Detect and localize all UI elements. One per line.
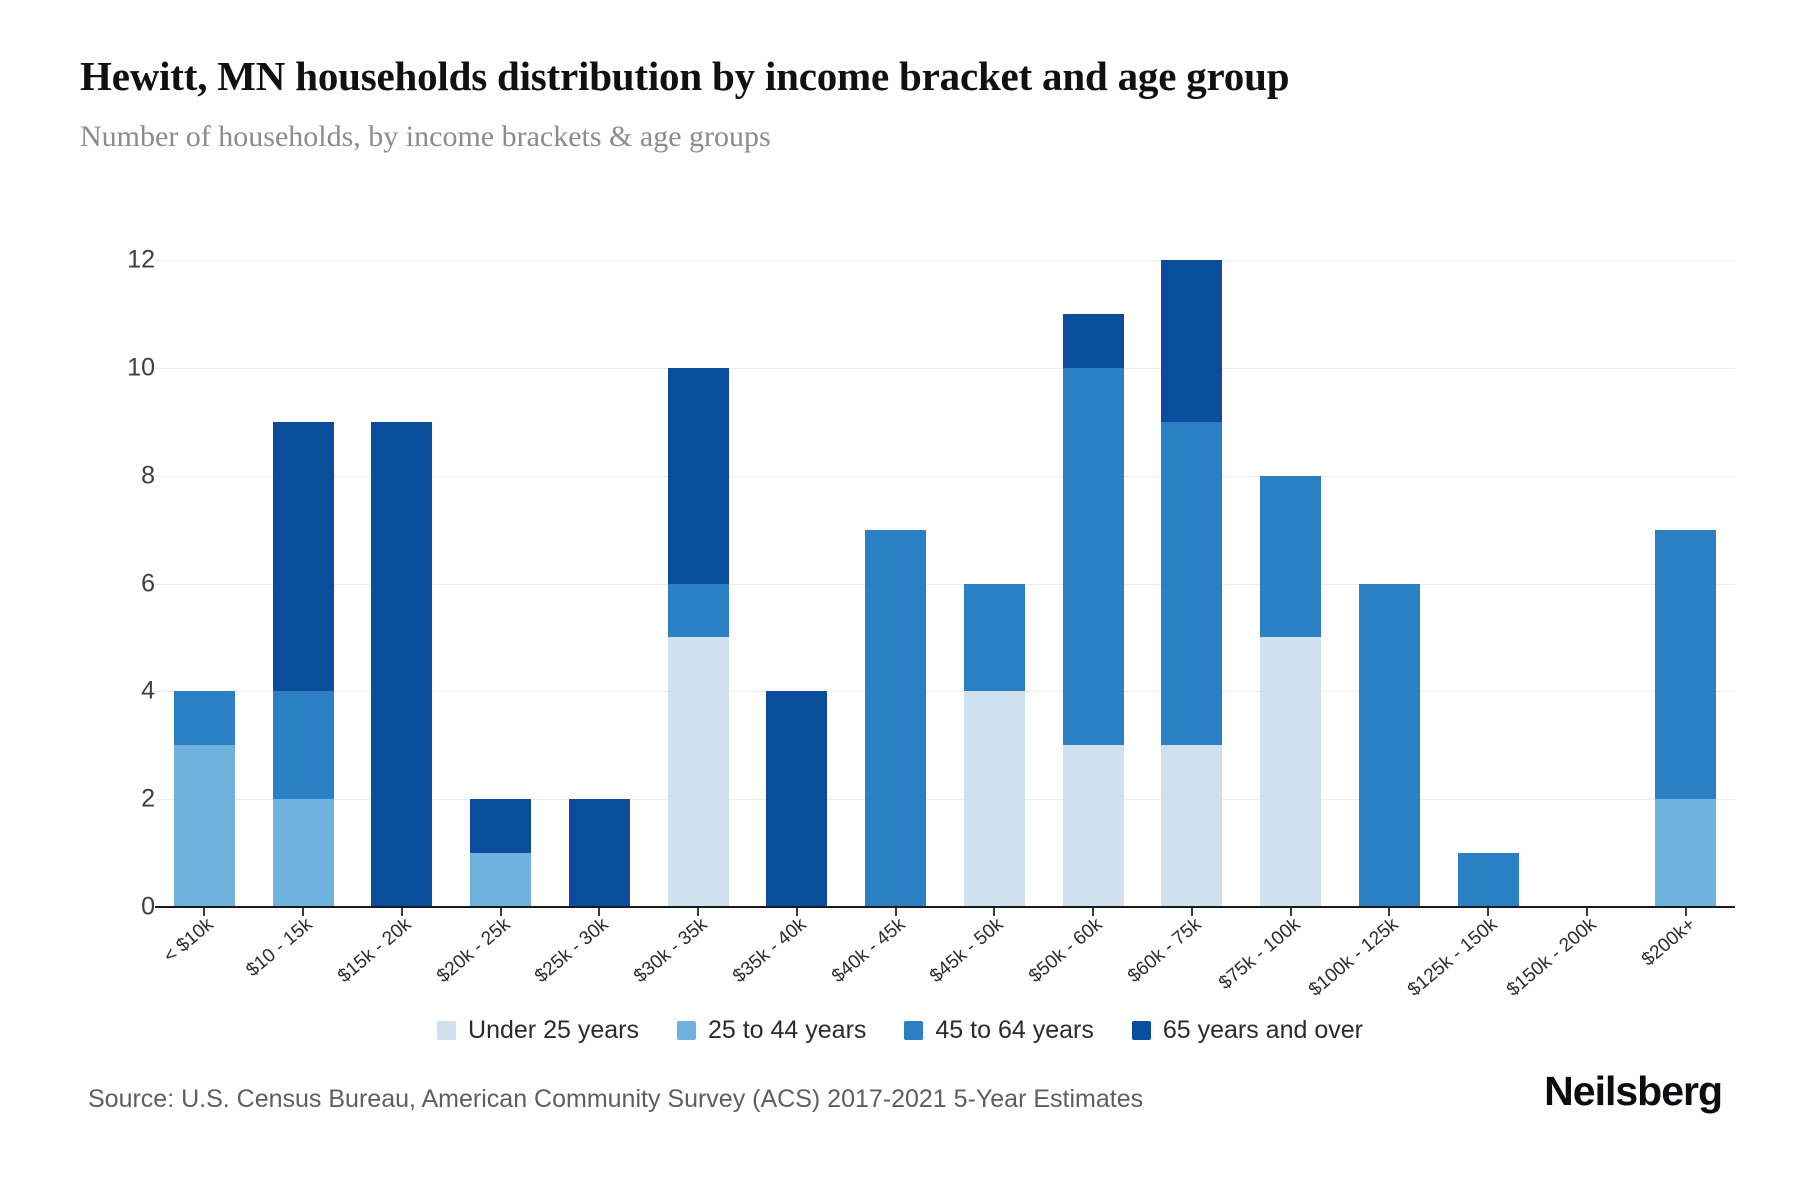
- bar-stack[interactable]: [470, 799, 531, 907]
- bar-slot[interactable]: [649, 260, 748, 907]
- source-note: Source: U.S. Census Bureau, American Com…: [88, 1085, 1143, 1114]
- bar-segment[interactable]: [470, 799, 531, 853]
- bar-slot[interactable]: [1241, 260, 1340, 907]
- legend-label: 45 to 64 years: [935, 1016, 1093, 1045]
- legend-item[interactable]: 65 years and over: [1132, 1016, 1363, 1045]
- bar-segment[interactable]: [273, 691, 334, 799]
- bar-slot[interactable]: [1439, 260, 1538, 907]
- bar-stack[interactable]: [273, 422, 334, 907]
- x-label-slot: $150k - 200k: [1538, 912, 1637, 1022]
- x-axis-labels: < $10k$10 - 15k$15k - 20k$20k - 25k$25k …: [155, 912, 1735, 1022]
- bar-segment[interactable]: [1359, 584, 1420, 908]
- y-axis-tick-label: 8: [115, 461, 155, 490]
- page-subtitle: Number of households, by income brackets…: [80, 120, 771, 154]
- bar-stack[interactable]: [668, 368, 729, 907]
- bar-segment[interactable]: [1063, 745, 1124, 907]
- bar-segment[interactable]: [273, 422, 334, 692]
- bar-slot[interactable]: [1340, 260, 1439, 907]
- bar-segment[interactable]: [964, 691, 1025, 907]
- bar-segment[interactable]: [1260, 637, 1321, 907]
- x-axis-line: [155, 906, 1735, 908]
- bar-segment[interactable]: [174, 745, 235, 907]
- legend-swatch-icon: [437, 1021, 456, 1040]
- y-axis-tick-label: 2: [115, 785, 155, 814]
- bar-segment[interactable]: [273, 799, 334, 907]
- legend-label: 25 to 44 years: [708, 1016, 866, 1045]
- brand-logo: Neilsberg: [1544, 1068, 1722, 1115]
- legend-item[interactable]: 45 to 64 years: [904, 1016, 1093, 1045]
- bar-slot[interactable]: [254, 260, 353, 907]
- bar-segment[interactable]: [174, 691, 235, 745]
- y-axis-tick-label: 4: [115, 677, 155, 706]
- bar-segment[interactable]: [1161, 745, 1222, 907]
- legend-swatch-icon: [677, 1021, 696, 1040]
- bar-segment[interactable]: [470, 853, 531, 907]
- legend-swatch-icon: [1132, 1021, 1151, 1040]
- x-axis-tick-label: < $10k: [160, 914, 218, 968]
- bar-slot[interactable]: [748, 260, 847, 907]
- bar-stack[interactable]: [865, 530, 926, 907]
- bar-segment[interactable]: [766, 691, 827, 907]
- x-axis-tick-label: $10 - 15k: [242, 914, 317, 982]
- bar-stack[interactable]: [569, 799, 630, 907]
- bar-stack[interactable]: [766, 691, 827, 907]
- x-label-slot: $200k+: [1636, 912, 1735, 1022]
- bar-segment[interactable]: [1260, 476, 1321, 638]
- bar-segment[interactable]: [1063, 314, 1124, 368]
- bar-segment[interactable]: [1458, 853, 1519, 907]
- bar-stack[interactable]: [1655, 530, 1716, 907]
- bar-segment[interactable]: [1655, 799, 1716, 907]
- bar-stack[interactable]: [1161, 260, 1222, 907]
- bar-slot[interactable]: [1044, 260, 1143, 907]
- bar-slot[interactable]: [451, 260, 550, 907]
- bar-segment[interactable]: [569, 799, 630, 907]
- bar-slot[interactable]: [945, 260, 1044, 907]
- bar-segment[interactable]: [1063, 368, 1124, 745]
- bar-slot[interactable]: [353, 260, 452, 907]
- bar-stack[interactable]: [1260, 476, 1321, 907]
- bar-slot[interactable]: [550, 260, 649, 907]
- page-title: Hewitt, MN households distribution by in…: [80, 52, 1289, 100]
- bar-stack[interactable]: [371, 422, 432, 907]
- bar-segment[interactable]: [668, 637, 729, 907]
- bar-stack[interactable]: [1063, 314, 1124, 907]
- chart-legend: Under 25 years25 to 44 years45 to 64 yea…: [0, 1016, 1800, 1045]
- bar-slot[interactable]: [155, 260, 254, 907]
- bar-segment[interactable]: [1161, 422, 1222, 746]
- legend-item[interactable]: Under 25 years: [437, 1016, 639, 1045]
- bar-slot[interactable]: [1143, 260, 1242, 907]
- plot-area: 024681012: [155, 260, 1735, 907]
- bar-segment[interactable]: [865, 530, 926, 907]
- y-axis-tick-label: 12: [115, 246, 155, 275]
- bar-slot[interactable]: [1538, 260, 1637, 907]
- bar-segment[interactable]: [1161, 260, 1222, 422]
- bar-stack[interactable]: [964, 584, 1025, 907]
- x-label-slot: < $10k: [155, 912, 254, 1022]
- bar-segment[interactable]: [964, 584, 1025, 692]
- bar-segment[interactable]: [371, 422, 432, 907]
- y-axis-tick-label: 10: [115, 353, 155, 382]
- bar-segment[interactable]: [1655, 530, 1716, 800]
- bar-stack[interactable]: [1359, 584, 1420, 908]
- chart-page: Hewitt, MN households distribution by in…: [0, 0, 1800, 1200]
- x-axis-tick-label: $200k+: [1637, 914, 1699, 971]
- legend-item[interactable]: 25 to 44 years: [677, 1016, 866, 1045]
- bar-slot[interactable]: [846, 260, 945, 907]
- bar-segment[interactable]: [668, 584, 729, 638]
- legend-swatch-icon: [904, 1021, 923, 1040]
- bar-slot[interactable]: [1636, 260, 1735, 907]
- y-axis-tick-label: 6: [115, 569, 155, 598]
- bar-segment[interactable]: [668, 368, 729, 584]
- legend-label: 65 years and over: [1163, 1016, 1363, 1045]
- bar-stack[interactable]: [1458, 853, 1519, 907]
- bar-stack[interactable]: [174, 691, 235, 907]
- legend-label: Under 25 years: [468, 1016, 639, 1045]
- y-axis-tick-label: 0: [115, 893, 155, 922]
- bar-series-container: [155, 260, 1735, 907]
